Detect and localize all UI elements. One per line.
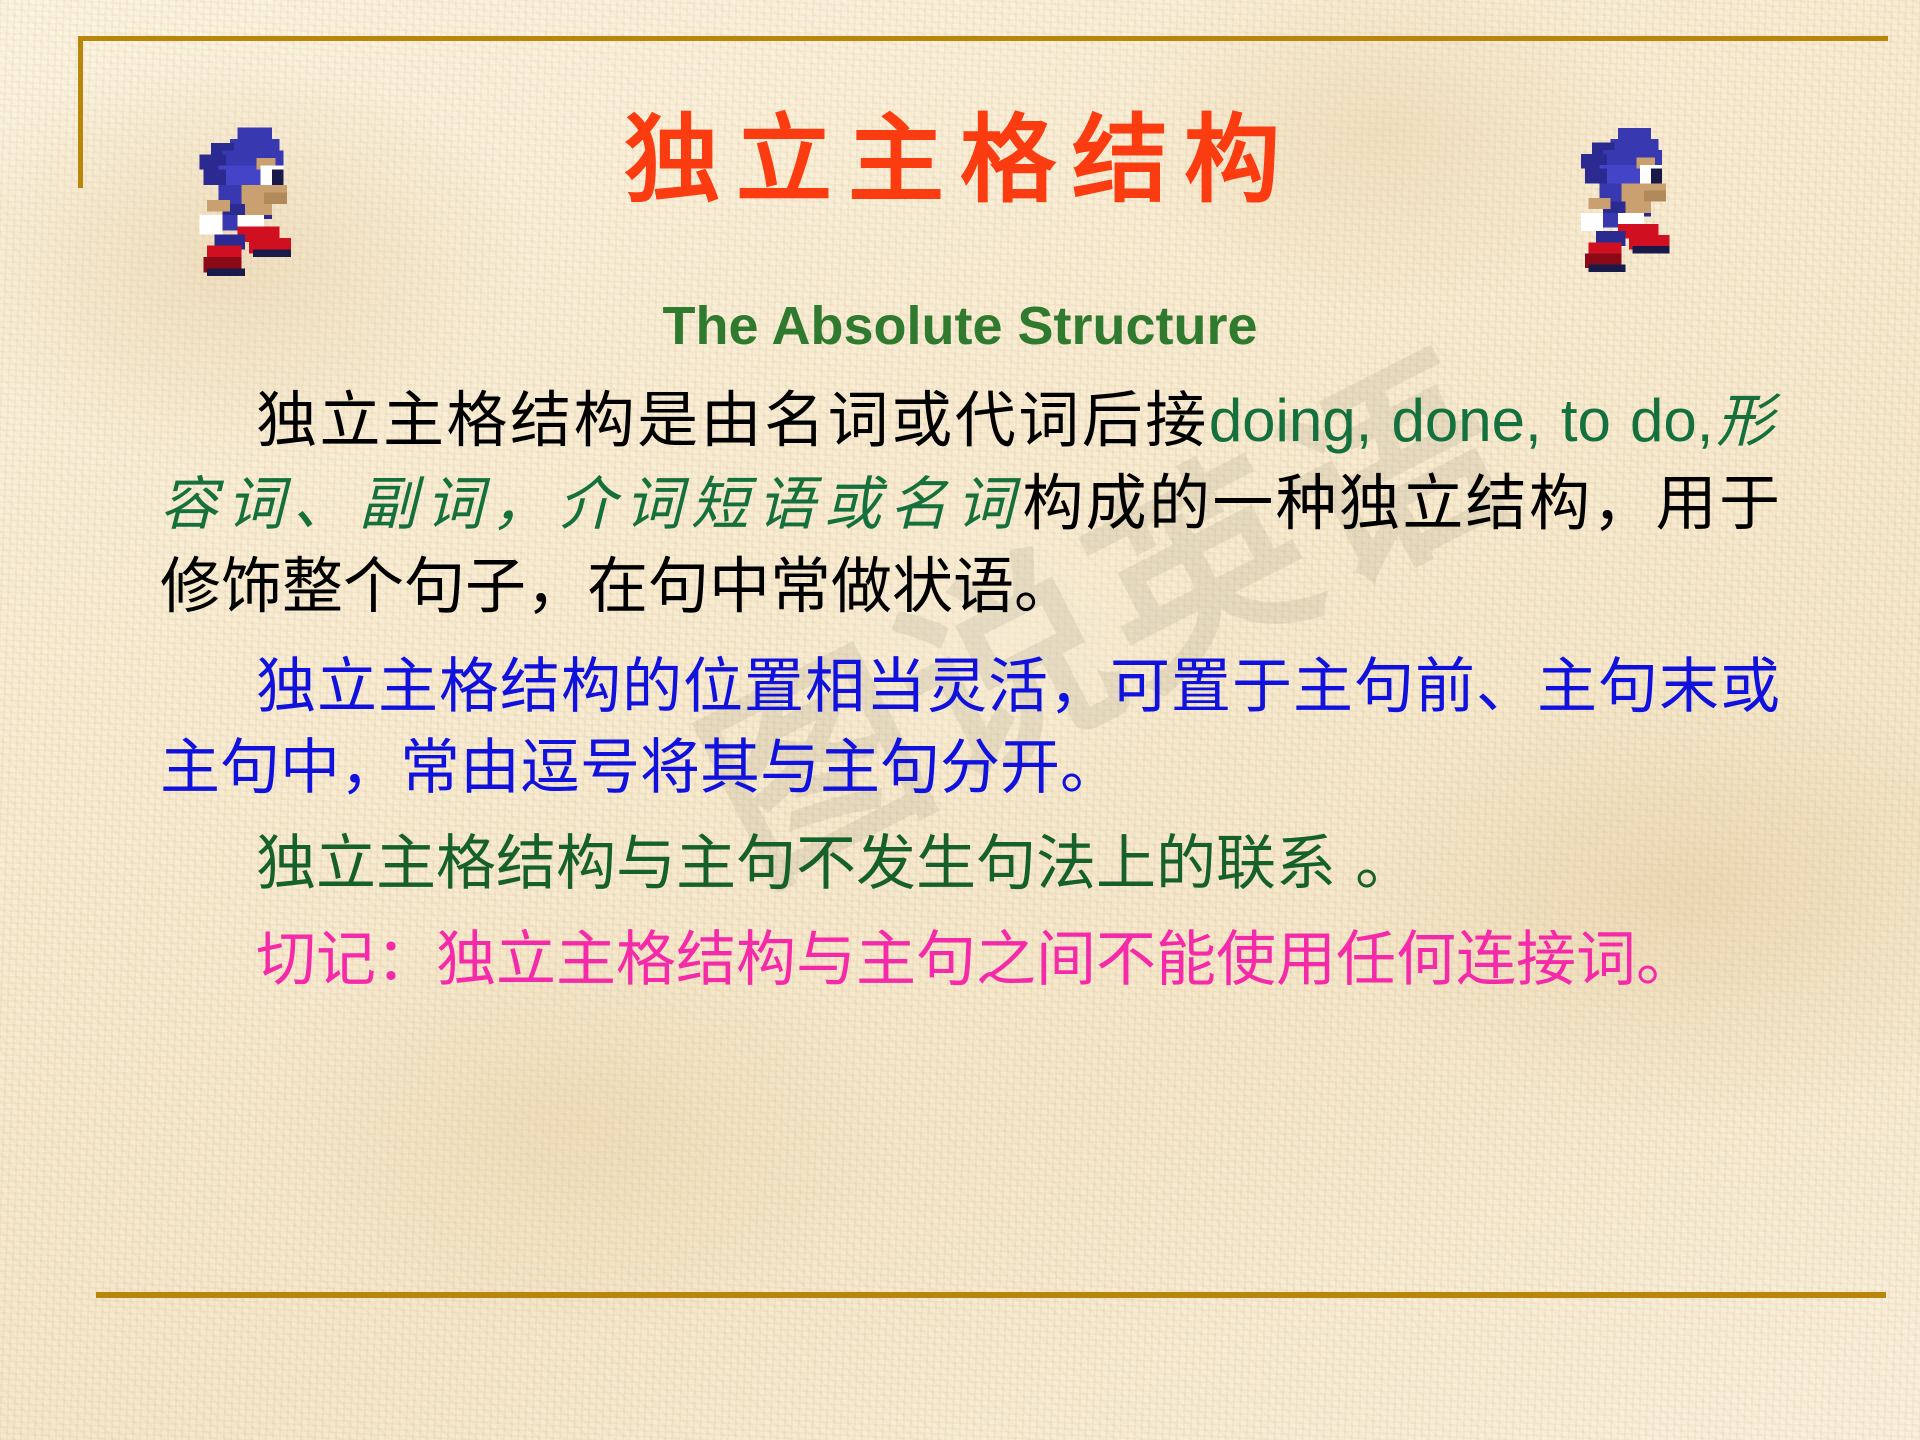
paragraph-definition-part-a: 独立主格结构是由名词或代词后接 [256, 385, 1209, 456]
body-content: 独立主格结构是由名词或代词后接doing, done, to do,形容词、副词… [160, 380, 1780, 1005]
paragraph-definition-english-forms: doing, done, to do, [1209, 387, 1714, 454]
paragraph-warning: 切记：独立主格结构与主句之间不能使用任何连接词。 [160, 920, 1780, 1002]
paragraph-position: 独立主格结构的位置相当灵活，可置于主句前、主句末或主句中，常由逗号将其与主句分开… [160, 647, 1780, 810]
border-rule-bottom [96, 1292, 1886, 1298]
paragraph-definition: 独立主格结构是由名词或代词后接doing, done, to do,形容词、副词… [160, 380, 1780, 629]
page-subtitle: The Absolute Structure [0, 295, 1920, 357]
slide-canvas: 图说英语 [0, 0, 1920, 1440]
paragraph-syntax-note: 独立主格结构与主句不发生句法上的联系 。 [160, 824, 1780, 906]
border-rule-top [78, 36, 1888, 41]
page-title: 独立主格结构 [0, 110, 1920, 211]
